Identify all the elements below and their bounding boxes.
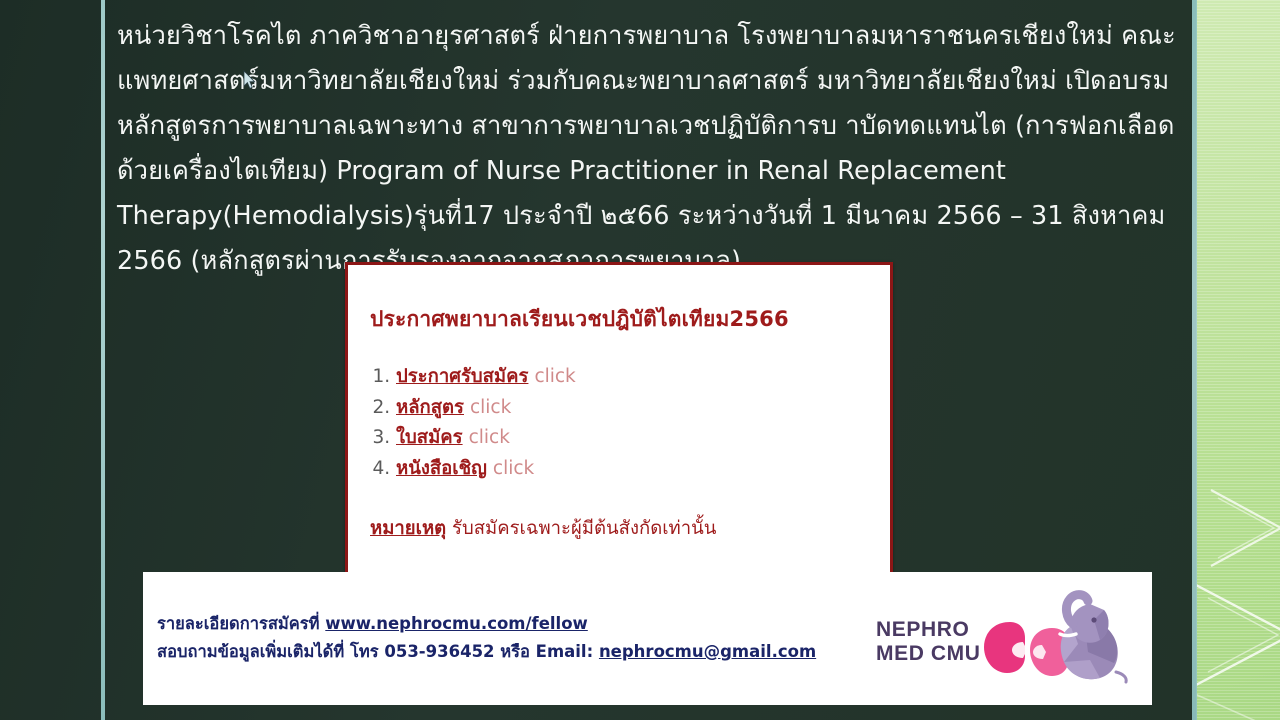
website-link[interactable]: www.nephrocmu.com/fellow <box>325 614 588 633</box>
logo-wordmark: NEPHRO MED CMU <box>876 618 981 666</box>
slide-background-green-strip <box>1196 0 1280 720</box>
slide-body-text: หน่วยวิชาโรคไต ภาควิชาอายุรศาสตร์ ฝ่ายกา… <box>117 14 1177 284</box>
kidney-elephant-icon <box>980 590 1130 690</box>
logo-line-1: NEPHRO <box>876 618 981 642</box>
contact-banner-text: รายละเอียดการสมัครที่ www.nephrocmu.com/… <box>157 610 816 666</box>
announcement-card: ประกาศพยาบาลเรียนเวชปฎิบัติไตเทียม2566 ป… <box>345 262 893 582</box>
list-item-label[interactable]: ประกาศรับสมัคร <box>396 366 528 387</box>
email-link[interactable]: nephrocmu@gmail.com <box>599 642 816 661</box>
chevron-decoration-icon <box>1196 480 1280 720</box>
list-item-label[interactable]: หนังสือเชิญ <box>396 458 487 479</box>
contact-line-1-prefix: รายละเอียดการสมัครที่ <box>157 614 325 633</box>
note-body: รับสมัครเฉพาะผู้มีต้นสังกัดเท่านั้น <box>452 518 716 539</box>
contact-line-2-prefix: สอบถามข้อมูลเพิ่มเติมได้ที่ โทร 053-9364… <box>157 642 599 661</box>
contact-line-2: สอบถามข้อมูลเพิ่มเติมได้ที่ โทร 053-9364… <box>157 638 816 666</box>
mouse-cursor-icon <box>243 70 256 90</box>
right-edge-teal-line <box>1192 0 1197 720</box>
slide-canvas: หน่วยวิชาโรคไต ภาควิชาอายุรศาสตร์ ฝ่ายกา… <box>0 0 1280 720</box>
list-item-label[interactable]: ใบสมัคร <box>396 427 463 448</box>
list-item[interactable]: ประกาศรับสมัครclick <box>396 362 890 393</box>
announcement-link-list: ประกาศรับสมัครclick หลักสูตรclick ใบสมัค… <box>348 362 890 484</box>
note-keyword: หมายเหตุ <box>370 518 446 539</box>
list-item[interactable]: หนังสือเชิญclick <box>396 454 890 485</box>
list-item-click-label[interactable]: click <box>470 397 511 418</box>
announcement-title: ประกาศพยาบาลเรียนเวชปฎิบัติไตเทียม2566 <box>370 303 890 336</box>
left-accent-line <box>101 0 105 720</box>
nephro-med-cmu-logo: NEPHRO MED CMU <box>872 590 1132 690</box>
contact-banner: รายละเอียดการสมัครที่ www.nephrocmu.com/… <box>143 572 1152 705</box>
list-item[interactable]: หลักสูตรclick <box>396 393 890 424</box>
list-item-click-label[interactable]: click <box>534 366 575 387</box>
logo-line-2: MED CMU <box>876 642 981 666</box>
list-item-click-label[interactable]: click <box>469 427 510 448</box>
contact-line-1: รายละเอียดการสมัครที่ www.nephrocmu.com/… <box>157 610 816 638</box>
list-item[interactable]: ใบสมัครclick <box>396 423 890 454</box>
list-item-click-label[interactable]: click <box>493 458 534 479</box>
list-item-label[interactable]: หลักสูตร <box>396 397 464 418</box>
announcement-note: หมายเหตุ รับสมัครเฉพาะผู้มีต้นสังกัดเท่า… <box>370 514 890 543</box>
